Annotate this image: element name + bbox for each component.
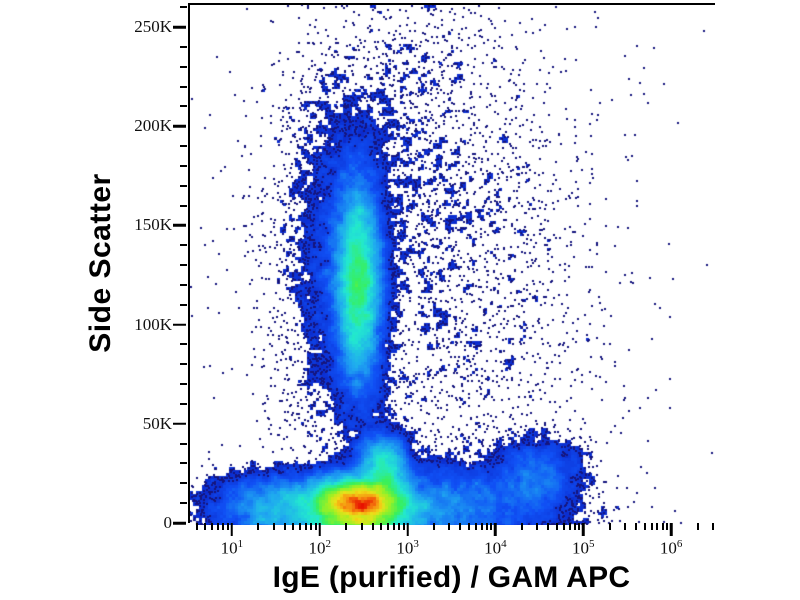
x-axis-minor-tick (284, 523, 286, 530)
y-axis-major-tick (173, 125, 186, 128)
y-axis-minor-tick (180, 6, 187, 8)
x-axis-minor-tick (211, 523, 213, 530)
x-axis-minor-tick (448, 523, 450, 530)
x-axis-minor-tick (644, 523, 646, 530)
y-axis-tick-label: 100K (110, 315, 172, 335)
x-axis-minor-tick (315, 523, 317, 530)
x-axis-minor-tick (305, 523, 307, 530)
x-axis-major-tick (318, 523, 321, 536)
x-axis-title: IgE (purified) / GAM APC (188, 561, 715, 595)
x-axis-minor-tick (536, 523, 538, 530)
x-axis-minor-tick (656, 523, 658, 530)
y-axis-major-tick (173, 323, 186, 326)
x-axis-minor-tick (398, 523, 400, 530)
flow-cytometry-figure: Side Scatter 050K100K150K200K250K 101102… (0, 0, 800, 600)
x-axis-tick-label: 105 (548, 538, 618, 559)
y-axis-minor-tick (180, 363, 187, 365)
y-axis-minor-tick (180, 482, 187, 484)
x-axis-minor-tick (624, 523, 626, 530)
y-axis-tick-label: 200K (110, 116, 172, 136)
y-axis-minor-tick (180, 46, 187, 48)
x-axis-minor-tick (196, 523, 198, 530)
y-axis-minor-tick (180, 304, 187, 306)
x-axis-tick-label: 103 (373, 538, 443, 559)
x-axis-minor-tick (481, 523, 483, 530)
x-axis-minor-tick (556, 523, 558, 530)
x-axis-minor-tick (217, 523, 219, 530)
x-axis-tick-label: 102 (285, 538, 355, 559)
y-axis-major-tick (173, 423, 186, 426)
x-axis-minor-tick (433, 523, 435, 530)
x-axis-minor-tick (569, 523, 571, 530)
x-axis-minor-tick (380, 523, 382, 530)
x-axis-minor-tick (662, 523, 664, 530)
x-axis-minor-tick (393, 523, 395, 530)
x-axis-minor-tick (697, 523, 699, 530)
x-axis-minor-tick (651, 523, 653, 530)
x-axis-minor-tick (666, 523, 668, 530)
x-axis-major-tick (494, 523, 497, 536)
x-axis-minor-tick (574, 523, 576, 530)
y-axis-minor-tick (180, 383, 187, 385)
y-axis-minor-tick (180, 165, 187, 167)
y-axis-minor-tick (180, 66, 187, 68)
y-axis-tick-labels: 050K100K150K200K250K (110, 0, 172, 600)
x-axis-minor-tick (609, 523, 611, 530)
y-axis-minor-tick (180, 264, 187, 266)
y-axis-tick-label: 150K (110, 215, 172, 235)
y-axis-tick-label: 0 (110, 513, 172, 533)
y-axis-minor-tick (180, 244, 187, 246)
y-axis-minor-tick (180, 343, 187, 345)
x-axis-minor-tick (521, 523, 523, 530)
x-axis-minor-tick (635, 523, 637, 530)
x-axis-minor-tick (345, 523, 347, 530)
x-axis-tick-label: 104 (460, 538, 530, 559)
plot-area (188, 3, 715, 523)
x-axis-minor-tick (547, 523, 549, 530)
x-axis-minor-tick (292, 523, 294, 530)
y-axis-major-tick (173, 522, 186, 525)
y-axis-major-tick (173, 26, 186, 29)
x-axis-minor-tick (475, 523, 477, 530)
scatter-density-canvas (190, 5, 717, 525)
y-axis-minor-tick (180, 145, 187, 147)
y-axis-minor-tick (180, 205, 187, 207)
x-axis-minor-tick (222, 523, 224, 530)
x-axis-major-tick (406, 523, 409, 536)
x-axis-minor-tick (486, 523, 488, 530)
x-axis-minor-tick (578, 523, 580, 530)
x-axis-tick-label: 106 (636, 538, 706, 559)
y-axis-major-tick (173, 224, 186, 227)
y-axis-minor-tick (180, 462, 187, 464)
x-axis-major-tick (670, 523, 673, 536)
x-axis-minor-tick (712, 523, 714, 530)
x-axis-minor-tick (490, 523, 492, 530)
x-axis-minor-tick (227, 523, 229, 530)
y-axis-tick-label: 250K (110, 17, 172, 37)
x-axis-minor-tick (273, 523, 275, 530)
y-axis-minor-tick (180, 443, 187, 445)
x-axis-minor-tick (257, 523, 259, 530)
x-axis-major-tick (582, 523, 585, 536)
x-axis-minor-tick (403, 523, 405, 530)
x-axis-major-tick (231, 523, 234, 536)
x-axis-minor-tick (299, 523, 301, 530)
y-axis-minor-tick (180, 185, 187, 187)
y-axis-minor-tick (180, 105, 187, 107)
x-axis-minor-tick (468, 523, 470, 530)
x-axis-minor-tick (361, 523, 363, 530)
y-axis-minor-tick (180, 86, 187, 88)
x-axis-minor-tick (459, 523, 461, 530)
x-axis-minor-tick (387, 523, 389, 530)
x-axis-minor-tick (372, 523, 374, 530)
y-axis-tick-label: 50K (110, 414, 172, 434)
y-axis-minor-tick (180, 502, 187, 504)
x-axis-minor-tick (204, 523, 206, 530)
x-axis-minor-tick (310, 523, 312, 530)
x-axis-tick-label: 101 (197, 538, 267, 559)
y-axis-minor-tick (180, 284, 187, 286)
y-axis-minor-tick (180, 403, 187, 405)
x-axis-minor-tick (563, 523, 565, 530)
